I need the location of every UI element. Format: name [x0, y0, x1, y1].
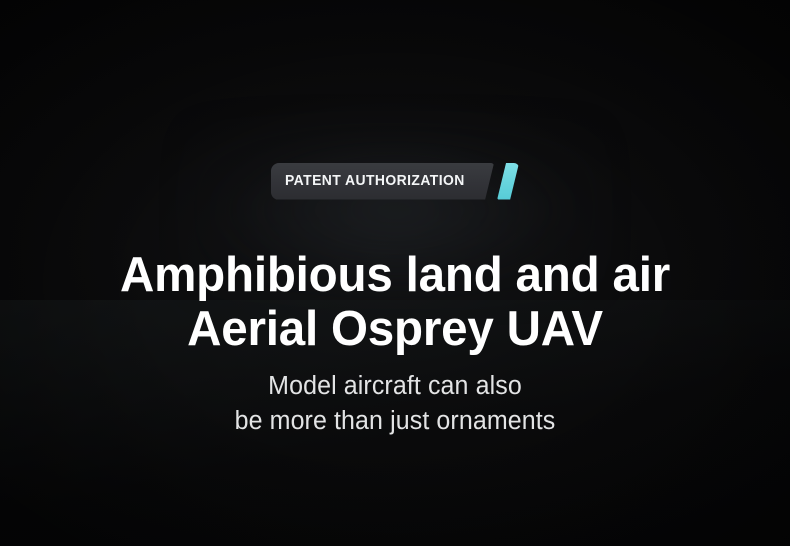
subtitle-line-1: Model aircraft can also — [8, 369, 782, 404]
patent-authorization-badge: PATENT AUTHORIZATION — [271, 163, 519, 200]
page-title: Amphibious land and air Aerial Osprey UA… — [0, 248, 790, 356]
page-subtitle: Model aircraft can also be more than jus… — [0, 369, 790, 439]
badge-plate: PATENT AUTHORIZATION — [271, 163, 494, 200]
banner-content: PATENT AUTHORIZATION Amphibious land and… — [0, 0, 790, 546]
headline-line-1: Amphibious land and air — [12, 248, 778, 302]
headline-line-2: Aerial Osprey UAV — [12, 302, 778, 356]
promo-banner: PATENT AUTHORIZATION Amphibious land and… — [0, 0, 790, 546]
subtitle-line-2: be more than just ornaments — [8, 404, 782, 439]
badge-row: PATENT AUTHORIZATION — [0, 162, 790, 200]
badge-label: PATENT AUTHORIZATION — [285, 174, 465, 189]
badge-accent-shape — [497, 163, 519, 200]
